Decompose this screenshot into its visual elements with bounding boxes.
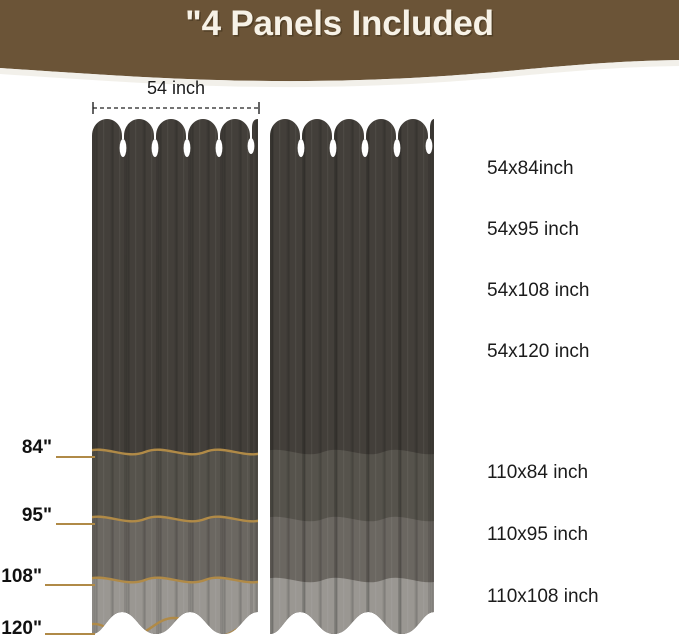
- infographic-page: "4 Panels Included 54 inch: [0, 0, 679, 643]
- height-marker-120: 120": [0, 618, 42, 640]
- right-curtain-panel: [263, 110, 441, 643]
- height-marker-108: 108": [0, 566, 42, 588]
- size-label-54x95: 54x95 inch: [487, 219, 579, 241]
- height-marker-95: 95": [0, 505, 52, 527]
- height-marker-84: 84": [0, 437, 52, 459]
- marker-leader-line-icon: [45, 457, 95, 634]
- size-label-110x108: 110x108 inch: [487, 586, 599, 608]
- size-label-110x95: 110x95 inch: [487, 524, 588, 546]
- size-label-54x84: 54x84inch: [487, 158, 574, 180]
- size-label-110x84: 110x84 inch: [487, 462, 588, 484]
- left-curtain-panel: [85, 110, 265, 643]
- size-label-54x108: 54x108 inch: [487, 280, 589, 302]
- size-label-54x120: 54x120 inch: [487, 341, 589, 363]
- curtain-panels-illustration: [0, 0, 679, 643]
